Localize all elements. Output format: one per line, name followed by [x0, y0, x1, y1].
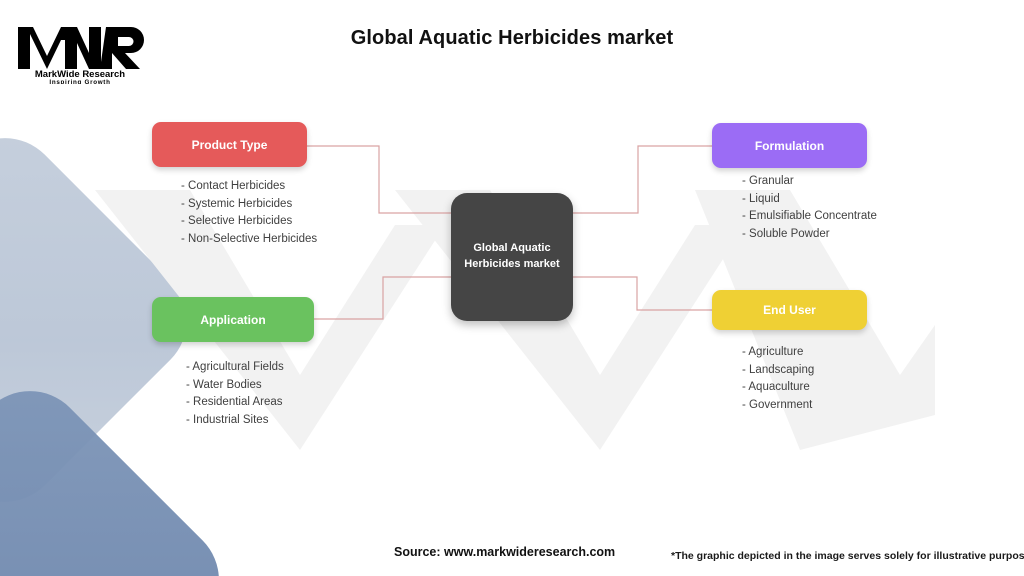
- list-item: - Industrial Sites: [186, 412, 284, 430]
- list-end-user: - Agriculture - Landscaping - Aquacultur…: [742, 344, 814, 414]
- connector-end-user: [569, 277, 712, 310]
- list-item: - Granular: [742, 173, 877, 191]
- list-item: - Non-Selective Herbicides: [181, 231, 317, 249]
- source-label: Source: www.markwideresearch.com: [394, 545, 615, 559]
- list-item: - Liquid: [742, 191, 877, 209]
- connector-product-type: [307, 146, 455, 213]
- center-node-label: Global Aquatic Herbicides market: [464, 241, 559, 273]
- center-node-line2: Herbicides market: [464, 258, 559, 270]
- list-application: - Agricultural Fields - Water Bodies - R…: [186, 359, 284, 429]
- node-formulation[interactable]: Formulation: [712, 123, 867, 168]
- list-item: - Systemic Herbicides: [181, 196, 317, 214]
- list-item: - Selective Herbicides: [181, 213, 317, 231]
- diagram-canvas: MarkWide Research Inspiring Growth Globa…: [0, 0, 1024, 576]
- list-item: - Contact Herbicides: [181, 178, 317, 196]
- list-item: - Aquaculture: [742, 379, 814, 397]
- node-end-user[interactable]: End User: [712, 290, 867, 330]
- node-application-label: Application: [200, 313, 265, 327]
- disclaimer-label: *The graphic depicted in the image serve…: [671, 550, 1024, 562]
- center-node-line1: Global Aquatic: [473, 242, 550, 254]
- node-formulation-label: Formulation: [755, 139, 824, 153]
- node-end-user-label: End User: [763, 303, 816, 317]
- node-product-type-label: Product Type: [192, 138, 268, 152]
- list-item: - Soluble Powder: [742, 226, 877, 244]
- list-item: - Agriculture: [742, 344, 814, 362]
- center-node[interactable]: Global Aquatic Herbicides market: [451, 193, 573, 321]
- list-item: - Agricultural Fields: [186, 359, 284, 377]
- list-item: - Government: [742, 397, 814, 415]
- node-application[interactable]: Application: [152, 297, 314, 342]
- connector-formulation: [569, 146, 712, 213]
- connector-application: [314, 277, 455, 319]
- node-product-type[interactable]: Product Type: [152, 122, 307, 167]
- list-item: - Residential Areas: [186, 394, 284, 412]
- list-formulation: - Granular - Liquid - Emulsifiable Conce…: [742, 173, 877, 243]
- list-item: - Landscaping: [742, 362, 814, 380]
- list-item: - Water Bodies: [186, 377, 284, 395]
- list-item: - Emulsifiable Concentrate: [742, 208, 877, 226]
- list-product-type: - Contact Herbicides - Systemic Herbicid…: [181, 178, 317, 248]
